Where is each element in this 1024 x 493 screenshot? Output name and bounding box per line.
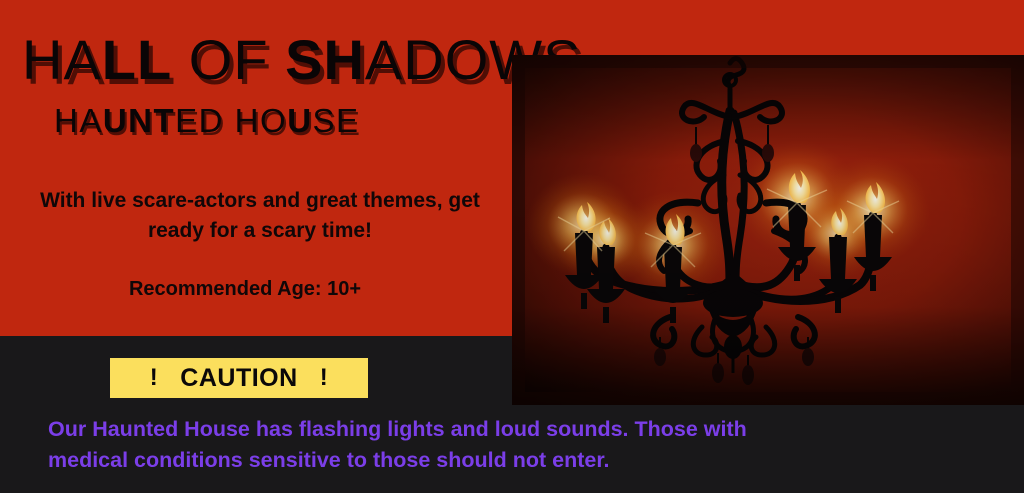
exclamation-icon-right: ! xyxy=(320,364,329,392)
chandelier-illustration xyxy=(512,55,1024,405)
title-segment-bold: SH xyxy=(285,28,365,91)
subtitle-segment: ED HO xyxy=(175,102,287,139)
caution-label: CAUTION xyxy=(180,364,297,393)
title-segment: OF xyxy=(172,28,285,91)
page-subtitle: HAUNTED HOUSE xyxy=(54,104,360,137)
title-segment-bold: LL xyxy=(102,28,172,91)
subtitle-segment: SE xyxy=(313,102,360,139)
tagline-text: With live scare-actors and great themes,… xyxy=(20,186,500,247)
page-title: HALL OF SHADOWS xyxy=(22,32,581,88)
caution-banner: ! CAUTION ! xyxy=(110,358,368,398)
title-segment: HA xyxy=(22,28,102,91)
haunted-house-poster: HALL OF SHADOWS HAUNTED HOUSE With live … xyxy=(0,0,1024,493)
caution-banner-inner: ! CAUTION ! xyxy=(150,364,328,393)
subtitle-segment-bold: U xyxy=(287,102,312,139)
exclamation-icon-left: ! xyxy=(150,364,159,392)
chandelier-photo xyxy=(512,55,1024,405)
warning-text: Our Haunted House has flashing lights an… xyxy=(48,414,788,475)
subtitle-segment-bold: UNT xyxy=(103,102,175,139)
subtitle-segment: HA xyxy=(54,102,103,139)
recommended-age-text: Recommended Age: 10+ xyxy=(20,278,470,301)
